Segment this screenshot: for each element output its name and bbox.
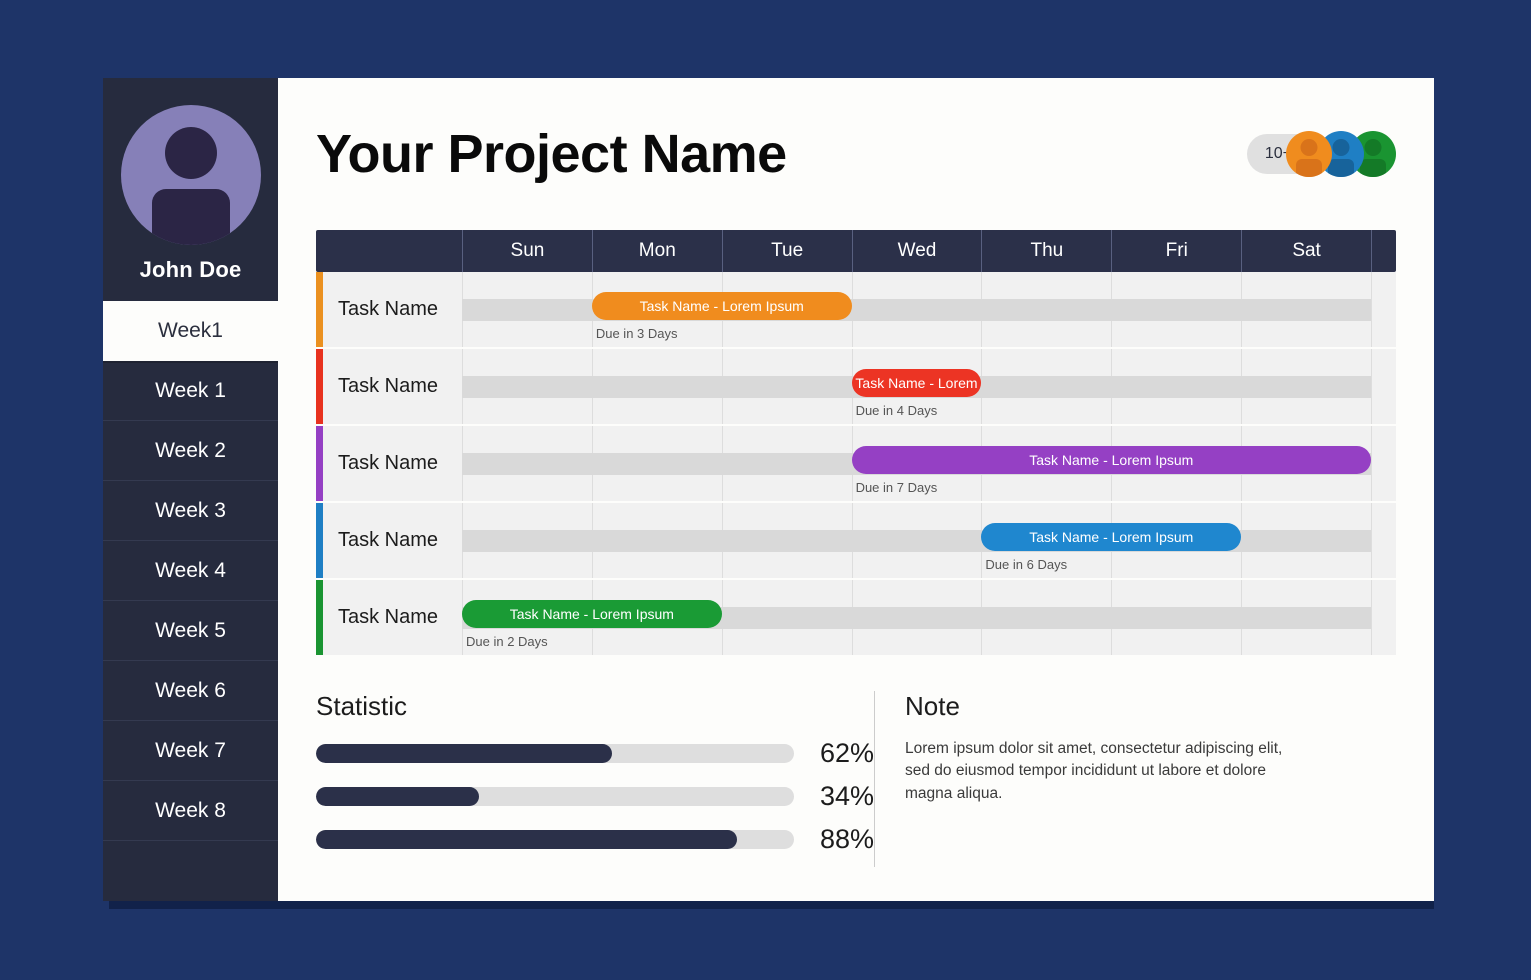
task-due-label: Due in 4 Days — [856, 403, 938, 418]
statistic-track — [316, 830, 794, 849]
statistic-value: 88% — [794, 824, 874, 855]
team-avatar-group[interactable]: 10+ — [1247, 131, 1396, 177]
avatar-head-icon — [165, 127, 217, 179]
gantt-header-row: SunMonTueWedThuFriSat — [316, 230, 1396, 272]
task-timeline: Task Name - Lorem IpsumDue in 7 Days — [462, 426, 1396, 501]
week-nav: Week1Week 1Week 2Week 3Week 4Week 5Week … — [103, 301, 278, 841]
sidebar-item-week-3[interactable]: Week 3 — [103, 481, 278, 541]
task-timeline: Task Name - LoremDue in 4 Days — [462, 349, 1396, 424]
gantt-bar[interactable]: Task Name - Lorem Ipsum — [592, 292, 852, 320]
task-name-label: Task Name — [316, 426, 462, 501]
gantt-col-header-tue: Tue — [722, 230, 852, 272]
task-name-label: Task Name — [316, 349, 462, 424]
statistic-track — [316, 744, 794, 763]
gantt-col-header-sat: Sat — [1241, 230, 1371, 272]
gantt-col-header-mon: Mon — [592, 230, 722, 272]
gantt-task-row[interactable]: Task NameTask Name - LoremDue in 4 Days — [316, 349, 1396, 424]
statistic-title: Statistic — [316, 691, 874, 722]
statistic-row: 88% — [316, 824, 874, 855]
statistic-track — [316, 787, 794, 806]
gantt-task-row[interactable]: Task NameTask Name - Lorem IpsumDue in 2… — [316, 580, 1396, 655]
statistic-list: 62%34%88% — [316, 738, 874, 855]
statistic-value: 34% — [794, 781, 874, 812]
sidebar-item-week-2[interactable]: Week 2 — [103, 421, 278, 481]
gantt-bar[interactable]: Task Name - Lorem — [852, 369, 982, 397]
grid-col-end — [1371, 503, 1396, 578]
note-panel: Note Lorem ipsum dolor sit amet, consect… — [905, 691, 1396, 867]
bottom-section: Statistic 62%34%88% Note Lorem ipsum dol… — [316, 691, 1396, 867]
sidebar-item-week-1[interactable]: Week 1 — [103, 361, 278, 421]
sidebar-item-week-4[interactable]: Week 4 — [103, 541, 278, 601]
task-timeline: Task Name - Lorem IpsumDue in 3 Days — [462, 272, 1396, 347]
task-timeline: Task Name - Lorem IpsumDue in 2 Days — [462, 580, 1396, 655]
sidebar-item-week-5[interactable]: Week 5 — [103, 601, 278, 661]
statistic-row: 62% — [316, 738, 874, 769]
statistic-fill — [316, 787, 479, 806]
gantt-col-header-thu: Thu — [981, 230, 1111, 272]
statistic-value: 62% — [794, 738, 874, 769]
task-due-label: Due in 7 Days — [856, 480, 938, 495]
note-title: Note — [905, 691, 1396, 722]
gantt-task-row[interactable]: Task NameTask Name - Lorem IpsumDue in 3… — [316, 272, 1396, 347]
main-panel: Your Project Name 10+ SunMonTueWedThuFri… — [278, 78, 1434, 901]
statistic-row: 34% — [316, 781, 874, 812]
gantt-col-header-fri: Fri — [1111, 230, 1241, 272]
page-header: Your Project Name 10+ — [316, 78, 1396, 230]
gantt-chart: SunMonTueWedThuFriSat Task NameTask Name… — [316, 230, 1396, 655]
gantt-bar[interactable]: Task Name - Lorem Ipsum — [981, 523, 1241, 551]
task-due-label: Due in 6 Days — [985, 557, 1067, 572]
dashboard-card: John Doe Week1Week 1Week 2Week 3Week 4We… — [103, 78, 1428, 901]
task-name-label: Task Name — [316, 503, 462, 578]
gantt-bar[interactable]: Task Name - Lorem Ipsum — [462, 600, 722, 628]
task-name-label: Task Name — [316, 272, 462, 347]
grid-col-end — [1371, 580, 1396, 655]
sidebar-item-week-0[interactable]: Week1 — [103, 301, 278, 361]
task-name-label: Task Name — [316, 580, 462, 655]
avatar — [121, 105, 261, 245]
gantt-task-row[interactable]: Task NameTask Name - Lorem IpsumDue in 7… — [316, 426, 1396, 501]
gantt-col-header-sun: Sun — [462, 230, 592, 272]
gantt-body: Task NameTask Name - Lorem IpsumDue in 3… — [316, 272, 1396, 655]
team-avatar-icon[interactable] — [1286, 131, 1332, 177]
gantt-task-row[interactable]: Task NameTask Name - Lorem IpsumDue in 6… — [316, 503, 1396, 578]
gantt-col-header-wed: Wed — [852, 230, 982, 272]
avatar-body-icon — [152, 189, 230, 245]
sidebar-item-week-6[interactable]: Week 6 — [103, 661, 278, 721]
sidebar-item-week-7[interactable]: Week 7 — [103, 721, 278, 781]
gantt-header-end-col — [1371, 230, 1396, 272]
statistic-fill — [316, 830, 737, 849]
profile-name: John Doe — [140, 257, 242, 283]
section-divider — [874, 691, 875, 867]
grid-col-end — [1371, 272, 1396, 347]
task-due-label: Due in 2 Days — [466, 634, 548, 649]
sidebar: John Doe Week1Week 1Week 2Week 3Week 4We… — [103, 78, 278, 901]
gantt-bar[interactable]: Task Name - Lorem Ipsum — [852, 446, 1371, 474]
sidebar-item-week-8[interactable]: Week 8 — [103, 781, 278, 841]
grid-col-end — [1371, 426, 1396, 501]
task-due-label: Due in 3 Days — [596, 326, 678, 341]
statistic-panel: Statistic 62%34%88% — [316, 691, 874, 867]
profile-block: John Doe — [103, 78, 278, 283]
note-body: Lorem ipsum dolor sit amet, consectetur … — [905, 738, 1285, 805]
task-timeline: Task Name - Lorem IpsumDue in 6 Days — [462, 503, 1396, 578]
grid-col-end — [1371, 349, 1396, 424]
statistic-fill — [316, 744, 612, 763]
gantt-header-task-col — [316, 230, 462, 272]
page-title: Your Project Name — [316, 123, 787, 185]
